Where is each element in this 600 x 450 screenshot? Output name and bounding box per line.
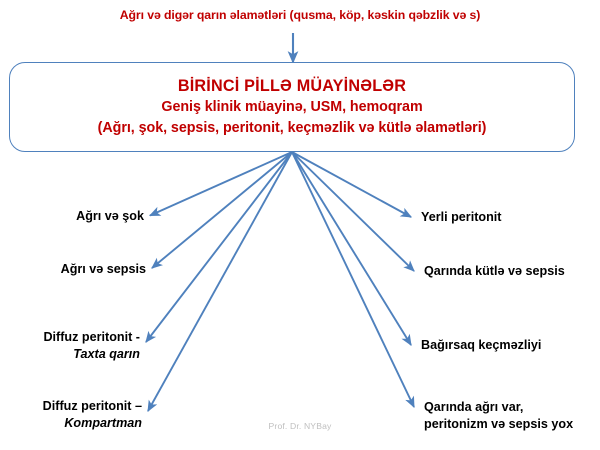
left-branch-label-2: Ağrı və sepsis — [61, 261, 146, 278]
left-branch-3-line1: Diffuz peritonit - — [43, 329, 140, 346]
main-box-detail: (Ağrı, şok, sepsis, peritonit, keçməzlik… — [98, 118, 487, 139]
slide-canvas: Ağrı və digər qarın əlamətləri (qusma, k… — [0, 0, 600, 450]
right-branch-label-2: Qarında kütlə və sepsis — [424, 263, 565, 280]
left-branch-2-line1: Ağrı və sepsis — [61, 261, 146, 278]
arrow-to-right-branch-4 — [292, 152, 414, 407]
main-box-subtitle: Geniş klinik müayinə, USM, hemoqram — [161, 97, 422, 118]
arrow-to-right-branch-2 — [292, 152, 414, 271]
arrow-to-left-branch-3 — [146, 152, 292, 342]
top-heading: Ağrı və digər qarın əlamətləri (qusma, k… — [0, 8, 600, 23]
arrow-to-left-branch-4 — [148, 152, 292, 411]
left-branch-4-line1: Diffuz peritonit – — [43, 398, 142, 415]
left-branch-label-1: Ağrı və şok — [76, 208, 144, 225]
arrow-to-right-branch-1 — [292, 152, 411, 217]
right-branch-2-line1: Qarında kütlə və sepsis — [424, 263, 565, 280]
right-branch-4-line1: Qarında ağrı var, — [424, 399, 573, 416]
left-branch-1-line1: Ağrı və şok — [76, 208, 144, 225]
main-box-title: BİRİNCİ PİLLƏ MÜAYİNƏLƏR — [178, 75, 406, 97]
right-branch-label-1: Yerli peritonit — [421, 209, 501, 226]
right-branch-label-3: Bağırsaq keçməzliyi — [421, 337, 541, 354]
right-branch-3-line1: Bağırsaq keçməzliyi — [421, 337, 541, 354]
author-watermark: Prof. Dr. NYBay — [0, 421, 600, 431]
main-assessment-box: BİRİNCİ PİLLƏ MÜAYİNƏLƏR Geniş klinik mü… — [9, 62, 575, 152]
arrow-to-left-branch-1 — [150, 152, 292, 216]
arrow-to-left-branch-2 — [152, 152, 292, 268]
arrow-to-right-branch-3 — [292, 152, 411, 345]
left-branch-3-line2: Taxta qarın — [43, 346, 140, 363]
right-branch-1-line1: Yerli peritonit — [421, 209, 501, 226]
left-branch-label-3: Diffuz peritonit - Taxta qarın — [43, 329, 140, 362]
